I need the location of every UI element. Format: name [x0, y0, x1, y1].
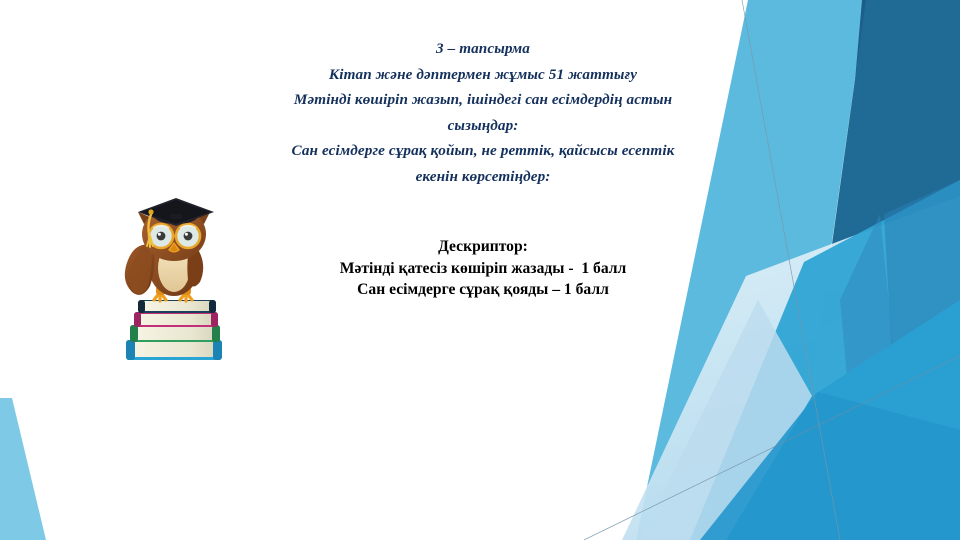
book-fourth	[126, 340, 222, 360]
owl-eye-left	[157, 232, 166, 241]
descriptor-line-1: Мәтінді қатесіз көшіріп жазады - 1 балл	[240, 258, 726, 280]
task-line-5: Сан есімдерге сұрақ қойып, не реттік, қа…	[236, 138, 730, 164]
decor-shape-bottom-right-strong	[690, 180, 960, 540]
owl-on-books-illustration	[112, 192, 238, 368]
decor-shape-left-wedge	[0, 398, 46, 540]
decor-shape-mid-sliver	[840, 214, 912, 540]
decor-shape-light-facet-lower	[640, 300, 812, 540]
slide-canvas: 3 – тапсырма Кітап және дәптермен жұмыс …	[0, 0, 960, 540]
decor-shape-bottom-band	[700, 392, 960, 540]
task-line-4: сызыңдар:	[236, 113, 730, 139]
book-third	[130, 325, 220, 342]
task-line-6: екенін көрсетіңдер:	[236, 164, 730, 190]
owl-eye-right	[184, 232, 193, 241]
decor-shape-bright-lower-wedge	[726, 300, 960, 540]
task-text-block: 3 – тапсырма Кітап және дәптермен жұмыс …	[236, 36, 730, 189]
task-line-1: 3 – тапсырма	[236, 36, 730, 62]
book-second	[134, 312, 218, 327]
decor-shape-bottom-right-sliver	[884, 180, 960, 540]
task-line-2: Кітап және дәптермен жұмыс 51 жаттығу	[236, 62, 730, 88]
task-line-3: Мәтінді көшіріп жазып, ішіндегі сан есім…	[236, 87, 730, 113]
decor-shape-band-dark	[836, 0, 960, 470]
descriptor-line-2: Сан есімдерге сұрақ қояды – 1 балл	[240, 279, 726, 301]
decor-hairline-steep	[742, 0, 840, 540]
descriptor-text-block: Дескриптор: Мәтінді қатесіз көшіріп жаза…	[240, 236, 726, 301]
decor-hairline-shallow	[584, 356, 960, 540]
descriptor-heading: Дескриптор:	[240, 236, 726, 258]
decor-shape-facet-mid-right	[820, 0, 960, 330]
book-top	[138, 300, 216, 313]
